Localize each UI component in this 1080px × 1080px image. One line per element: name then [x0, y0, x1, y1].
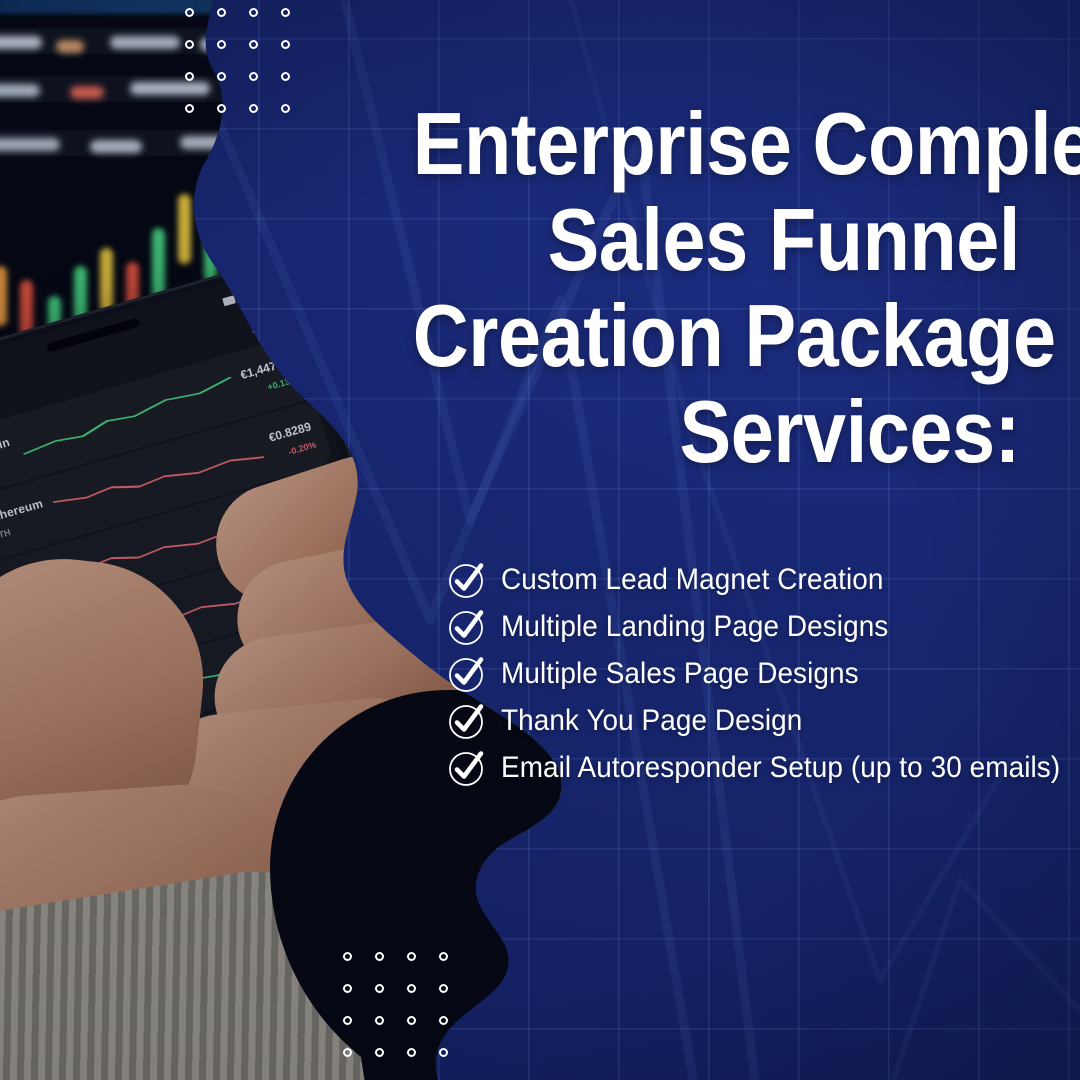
- decorative-dot: [343, 1048, 352, 1057]
- decorative-dot: [407, 1016, 416, 1025]
- poster-canvas: 4G BitcoinBTC€1,447.35+0.13%EthereumETH€…: [0, 0, 1080, 1080]
- check-circle-icon: [447, 748, 487, 788]
- decorative-dot: [217, 104, 226, 113]
- decorative-dot: [407, 1048, 416, 1057]
- decorative-dot: [343, 984, 352, 993]
- decorative-dot: [185, 104, 194, 113]
- decorative-dot: [281, 8, 290, 17]
- decorative-dot: [407, 952, 416, 961]
- checklist-item-label: Multiple Landing Page Designs: [501, 610, 888, 644]
- checklist-item: Multiple Sales Page Designs: [447, 650, 1047, 697]
- decorative-dot: [217, 72, 226, 81]
- decorative-dot: [185, 40, 194, 49]
- decorative-dot: [249, 104, 258, 113]
- decorative-dot: [343, 952, 352, 961]
- page-title-line-2: Sales Funnel: [413, 192, 1020, 288]
- decorative-dot: [375, 1048, 384, 1057]
- decorative-dot: [281, 104, 290, 113]
- checklist-item: Email Autoresponder Setup (up to 30 emai…: [447, 744, 1047, 791]
- decorative-dot: [185, 8, 194, 17]
- checklist-item-label: Multiple Sales Page Designs: [501, 657, 859, 691]
- page-title-line-4: Services:: [413, 384, 1020, 480]
- page-title-line-3: Creation Package: [413, 288, 1020, 384]
- checklist-item: Thank You Page Design: [447, 697, 1047, 744]
- decorative-dot: [185, 72, 194, 81]
- check-circle-icon: [447, 607, 487, 647]
- decorative-dot: [281, 72, 290, 81]
- checklist-item-label: Thank You Page Design: [501, 704, 802, 738]
- decorative-dot: [375, 1016, 384, 1025]
- page-title-line-1: Enterprise Complete: [413, 96, 1020, 192]
- decorative-dot: [217, 40, 226, 49]
- service-checklist: Custom Lead Magnet CreationMultiple Land…: [447, 556, 1047, 791]
- decorative-dot: [439, 1048, 448, 1057]
- decorative-dot: [375, 952, 384, 961]
- decorative-dot: [439, 952, 448, 961]
- check-circle-icon: [447, 701, 487, 741]
- checklist-item-label: Email Autoresponder Setup (up to 30 emai…: [501, 751, 1060, 785]
- decorative-dot: [439, 1016, 448, 1025]
- checklist-item: Custom Lead Magnet Creation: [447, 556, 1047, 603]
- checklist-item: Multiple Landing Page Designs: [447, 603, 1047, 650]
- decorative-dot: [281, 40, 290, 49]
- decorative-dot: [249, 40, 258, 49]
- decorative-dot: [407, 984, 416, 993]
- decorative-dot: [375, 984, 384, 993]
- decorative-dot: [439, 984, 448, 993]
- decorative-dot: [343, 1016, 352, 1025]
- check-circle-icon: [447, 560, 487, 600]
- checklist-item-label: Custom Lead Magnet Creation: [501, 563, 883, 597]
- decorative-dot: [249, 8, 258, 17]
- decorative-dot: [217, 8, 226, 17]
- page-title: Enterprise CompleteSales FunnelCreation …: [413, 96, 1020, 480]
- check-circle-icon: [447, 654, 487, 694]
- decorative-dot: [249, 72, 258, 81]
